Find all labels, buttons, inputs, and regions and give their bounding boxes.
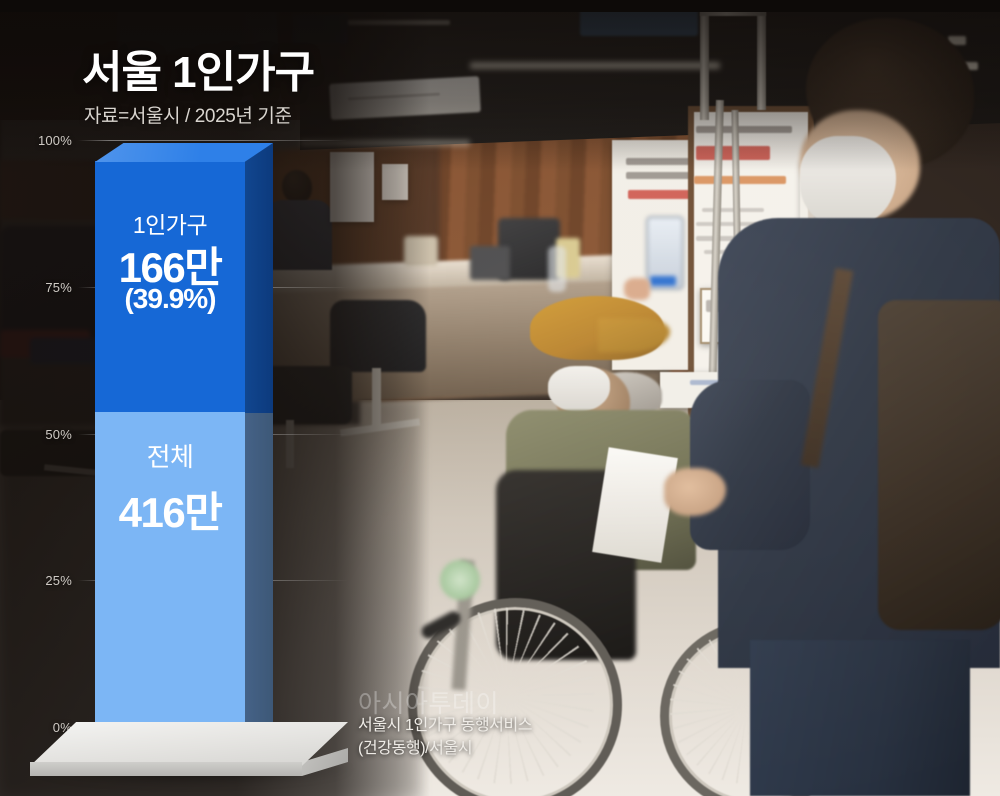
infographic-canvas: 서울 1인가구 자료=서울시 / 2025년 기준 100% 75% 50% 2… <box>0 0 1000 796</box>
bar-label-total-category: 전체 <box>95 437 245 474</box>
photo-poster-text <box>696 126 792 133</box>
photo-companion-arm <box>690 380 810 550</box>
photo-pole <box>700 0 709 120</box>
photo-poster-phone-keys <box>650 276 676 286</box>
photo-caption-line-1: 서울시 1인가구 동행서비스 <box>358 715 532 738</box>
photo-caption: 서울시 1인가구 동행서비스 (건강동행)/서울시 <box>358 715 532 760</box>
photo-companion-bag <box>878 300 1000 630</box>
platform-top-face <box>30 722 348 766</box>
bar-chart: 100% 75% 50% 25% 0% 1인가구 166만 (39.9%) 전체… <box>0 0 430 796</box>
axis-tick-50: 50% <box>26 427 72 442</box>
photo-pole <box>757 0 766 110</box>
axis-tick-100: 100% <box>26 133 72 148</box>
platform-front-face <box>30 762 302 776</box>
photo-wheelchair-sticker <box>440 560 480 600</box>
bar-top-face-highlight <box>95 143 273 162</box>
photo-caption-line-2: (건강동행)/서울시 <box>358 738 532 761</box>
photo-poster-hand <box>624 278 650 300</box>
photo-companion-jeans <box>750 640 970 796</box>
photo-poster-text-orange <box>694 176 786 184</box>
photo-device <box>470 246 510 280</box>
axis-tick-75: 75% <box>26 280 72 295</box>
bar-label-total-value: 416만 <box>95 479 245 540</box>
photo-ceiling-light-strip <box>470 62 720 69</box>
bar-side-total <box>245 412 273 763</box>
photo-sanitizer <box>548 246 566 292</box>
bar-label-single-percent: (39.9%) <box>95 283 245 315</box>
bar-side-single <box>245 143 273 413</box>
gridline-100 <box>78 140 348 141</box>
photo-wall-monitor <box>580 8 698 36</box>
axis-tick-25: 25% <box>26 573 72 588</box>
